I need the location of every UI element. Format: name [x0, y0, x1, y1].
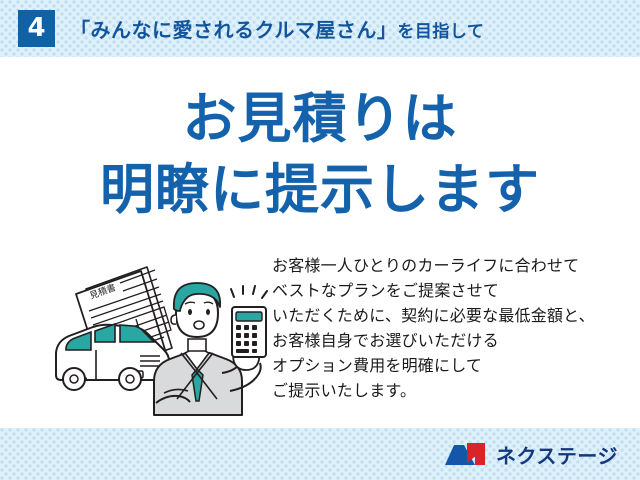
promo-slide: 4 「みんなに愛されるクルマ屋さん」を目指して お見積りは 明瞭に提示します 見… — [0, 0, 640, 480]
body-line-2: ベストなプランをご提案させて — [272, 278, 622, 303]
header-band: 4 「みんなに愛されるクルマ屋さん」を目指して — [0, 0, 640, 57]
illustration-svg: 見積書 — [44, 253, 272, 418]
brand-name: ネクステージ — [496, 440, 618, 469]
footer-band: ネクステージ — [0, 428, 640, 480]
body-line-1: お客様一人ひとりのカーライフに合わせて — [272, 253, 622, 278]
calculator-icon — [232, 307, 266, 357]
sparkles-icon — [231, 286, 267, 298]
headline-line-2: 明瞭に提示します — [0, 163, 640, 217]
body-line-6: ご提示いたします。 — [272, 378, 622, 403]
nextage-n-logo-icon — [445, 441, 487, 467]
headline-line-1: お見積りは — [0, 92, 640, 146]
header-content: 4 「みんなに愛されるクルマ屋さん」を目指して — [0, 0, 640, 57]
header-title: 「みんなに愛されるクルマ屋さん」を目指して — [70, 14, 484, 43]
body-line-4: お客様自身でお選びいただける — [272, 328, 622, 353]
main-content: お見積りは 明瞭に提示します 見積書 — [0, 57, 640, 428]
brand-logo: ネクステージ — [445, 428, 618, 480]
body-copy: お客様一人ひとりのカーライフに合わせて ベストなプランをご提案させて いただくた… — [272, 253, 622, 403]
illustration-estimate-scene: 見積書 — [44, 253, 272, 418]
step-number-badge: 4 — [18, 10, 55, 47]
header-title-quoted: 「みんなに愛されるクルマ屋さん」 — [70, 18, 397, 42]
header-title-tail: を目指して — [397, 22, 484, 42]
body-line-5: オプション費用を明確にして — [272, 353, 622, 378]
body-line-3: いただくために、契約に必要な最低金額と、 — [272, 303, 622, 328]
